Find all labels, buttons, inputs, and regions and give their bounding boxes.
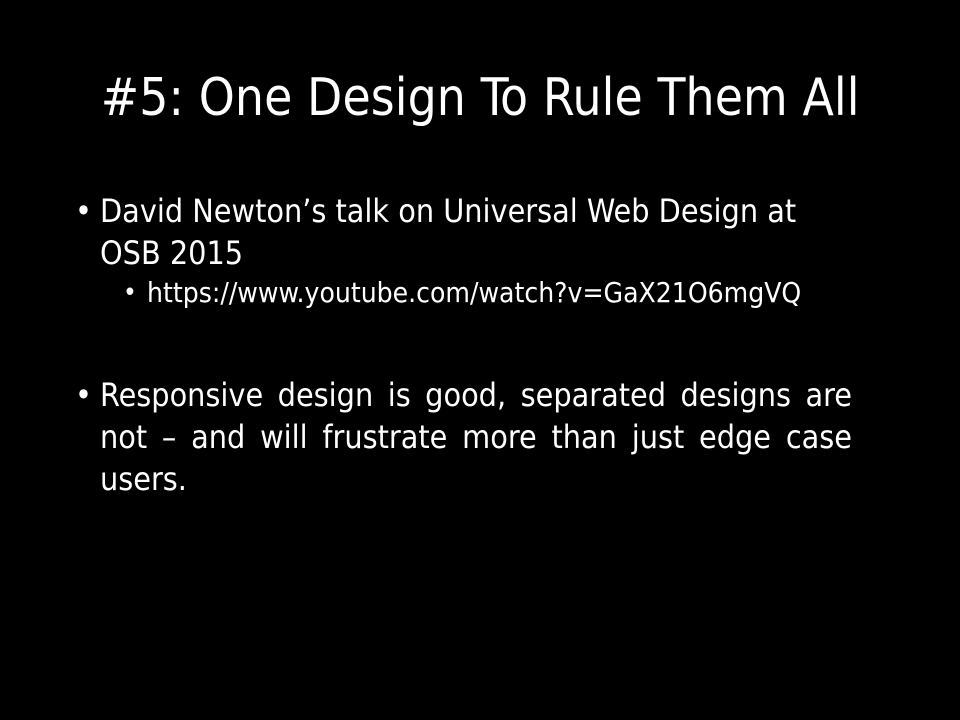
- presentation-slide: #5: One Design To Rule Them All • David …: [0, 0, 960, 720]
- list-item-label: David Newton’s talk on Universal Web Des…: [100, 190, 852, 274]
- list-item: • Responsive design is good, separated d…: [70, 374, 852, 500]
- blank-line-spacer: [70, 354, 852, 374]
- bullet-dot-icon: •: [75, 190, 95, 232]
- list-item: • David Newton’s talk on Universal Web D…: [70, 190, 852, 274]
- blank-line-spacer: [70, 312, 852, 354]
- slide-body-placeholder: • David Newton’s talk on Universal Web D…: [70, 190, 852, 500]
- page-title: #5: One Design To Rule Them All: [101, 70, 860, 126]
- bullet-dot-icon: •: [75, 374, 95, 416]
- list-item-sub: • https://www.youtube.com/watch?v=GaX21O…: [70, 274, 852, 312]
- bullet-dot-icon: •: [123, 274, 143, 312]
- slide-title-placeholder: #5: One Design To Rule Them All: [48, 58, 912, 138]
- youtube-link-label: https://www.youtube.com/watch?v=GaX21O6m…: [147, 274, 852, 312]
- list-item-label: Responsive design is good, separated des…: [100, 374, 852, 500]
